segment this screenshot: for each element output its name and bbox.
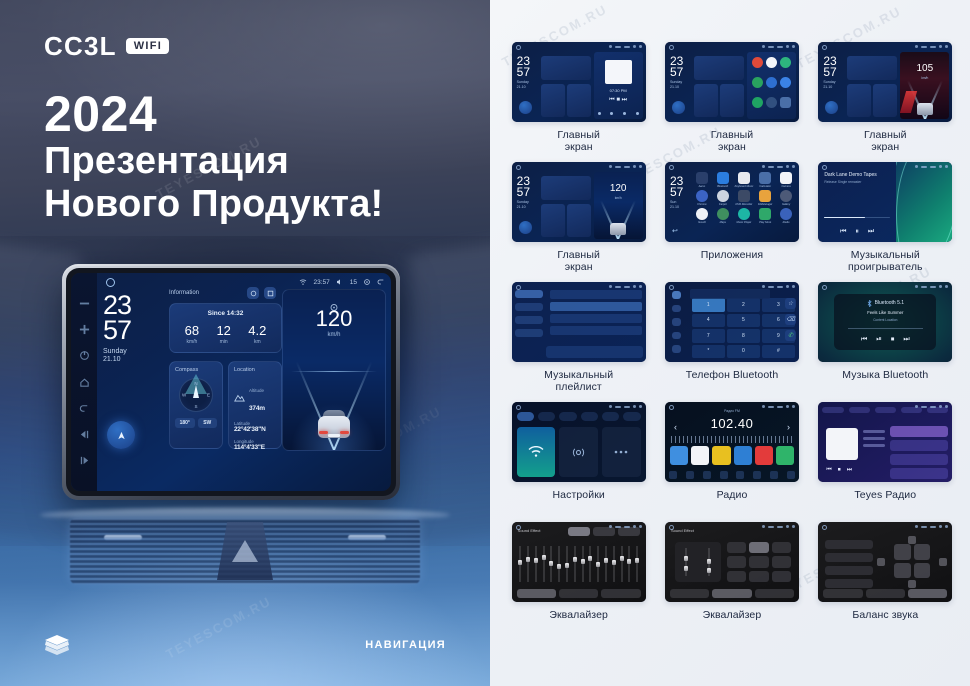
- road-visualization: [283, 340, 385, 450]
- compass-values: 180° SW: [175, 418, 217, 428]
- road-horizon: [291, 371, 377, 372]
- trip-stat-unit: km: [248, 339, 266, 345]
- status-bar: 23:57 15: [299, 278, 385, 286]
- app-tile: Music Player: [735, 208, 754, 224]
- navigation-fab-mini[interactable]: [519, 101, 532, 114]
- music-controls[interactable]: ⏮ ⏸ ⏭: [818, 228, 896, 236]
- thumbnail-home-drive[interactable]: 2357 Sunday21.10 120 km/h: [512, 162, 646, 242]
- drive-widget-mini: 120 km/h: [594, 172, 643, 239]
- home-circle-icon[interactable]: [106, 278, 115, 287]
- gallery-cell[interactable]: 1 2 3 4 5 6 7 8 9 * 0 #: [661, 282, 802, 402]
- equalizer-title: Sound Effect: [671, 528, 694, 533]
- gallery-caption: Эквалайзер: [703, 610, 762, 622]
- home-icon[interactable]: [79, 377, 90, 388]
- teyes-metadata: [863, 430, 885, 447]
- status-bar-mini: [762, 405, 795, 408]
- status-bar-mini: [915, 405, 948, 408]
- footer-navigation-label: НАВИГАЦИЯ: [365, 639, 446, 651]
- status-bar-mini: [609, 525, 642, 528]
- home-icon: [669, 285, 674, 290]
- gallery-grid: 2357 Sunday21.10 07:30 PM ⏮ ■ ⏭ Главный …: [508, 42, 956, 642]
- thumbnail-bluetooth-phone[interactable]: 1 2 3 4 5 6 7 8 9 * 0 #: [665, 282, 799, 362]
- radio-band-label: Радио FM: [665, 409, 799, 413]
- air-vent-slot-left: [104, 535, 142, 540]
- trip-stat: 12min: [216, 324, 230, 345]
- gallery-cell[interactable]: Dark Lane Demo Tapes Release Single rema…: [815, 162, 956, 282]
- music-visualizer: [896, 162, 952, 242]
- logo-model-text: CC3L: [44, 33, 117, 59]
- thumbnail-equalizer[interactable]: Sound Effect: [512, 522, 646, 602]
- gallery-caption: Музыкальный плейлист: [544, 370, 613, 394]
- home-icon: [516, 165, 521, 170]
- car-dashboard: 23:57 15 23 57 Sunda: [0, 236, 490, 546]
- bluetooth-icon: [867, 300, 872, 307]
- gallery-cell[interactable]: 2357 Sunday21.10 120 km/h Главный экран: [508, 162, 649, 282]
- keypad-key: 4: [692, 314, 725, 328]
- clock-mini: 2357: [823, 56, 836, 78]
- presentation-page: TEYESCOM.RU TEYESCOM.RU TEYESCOM.RU CC3L…: [0, 0, 970, 686]
- hotspot-icon: [572, 446, 585, 459]
- info-card-mini: [694, 56, 744, 80]
- status-bar-mini: [609, 45, 642, 48]
- status-bar-mini: [915, 525, 948, 528]
- app-tile: Gosoft: [693, 208, 711, 224]
- compass-heading: 180°: [175, 418, 195, 428]
- app-tile: DVR Recorder: [735, 190, 754, 206]
- balance-footer-tabs[interactable]: [823, 589, 947, 598]
- teyes-controls[interactable]: ⏮ ⏹ ⏭: [826, 467, 852, 474]
- album-art-mini: [826, 428, 858, 460]
- status-bar-mini: [915, 165, 948, 168]
- volume-up-icon[interactable]: [79, 324, 90, 335]
- navigation-fab-button[interactable]: [107, 421, 135, 449]
- app-tile: Chrome: [693, 190, 711, 206]
- trip-stat: 68km/h: [185, 324, 199, 345]
- gallery-caption: Эквалайзер: [549, 610, 608, 622]
- radio-presets[interactable]: [670, 446, 794, 465]
- wifi-icon: [528, 446, 544, 458]
- back-arrow-icon[interactable]: [377, 278, 385, 286]
- balance-right-button: [939, 558, 947, 566]
- keypad-key: 8: [727, 329, 760, 343]
- next-icon[interactable]: ⏭: [903, 336, 909, 344]
- gallery-caption: Главный экран: [557, 250, 600, 274]
- bluetooth-version-label: Bluetooth 5.1: [875, 300, 904, 306]
- clock-sub-mini: Sunday21.10: [823, 80, 835, 89]
- headline-year: 2024: [44, 88, 383, 140]
- gallery-cell[interactable]: Sound Effect: [508, 522, 649, 642]
- thumbnail-teyes-radio[interactable]: ⏮ ⏹ ⏭: [818, 402, 952, 482]
- gallery-caption: Баланс звука: [852, 610, 918, 622]
- info-card-mini: [847, 56, 897, 80]
- back-icon[interactable]: ↩: [672, 227, 678, 235]
- thumbnail-bluetooth-music[interactable]: Bluetooth 5.1 Feels Like Summer Content …: [818, 282, 952, 362]
- compass-card-mini: [847, 84, 871, 117]
- app-grid-mini[interactable]: Авто Bluetooth Keyboard Music Calculator…: [693, 172, 795, 224]
- drive-widget-mini: 105 km/h: [900, 52, 949, 119]
- teyes-station-list[interactable]: [890, 426, 948, 479]
- phone-sidebar[interactable]: [665, 282, 688, 362]
- previous-icon[interactable]: ⏮: [861, 336, 867, 344]
- status-bar-mini: [762, 525, 795, 528]
- drive-speed-card[interactable]: 120 km/h: [282, 289, 386, 451]
- thumbnail-music-player[interactable]: Dark Lane Demo Tapes Release Single rema…: [818, 162, 952, 242]
- trip-stat-value: 12: [216, 324, 230, 337]
- head-unit-bezel: 23:57 15 23 57 Sunda: [62, 264, 400, 500]
- gallery-cell[interactable]: Настройки: [508, 402, 649, 522]
- speed-value: 120: [283, 308, 385, 330]
- trip-stat-value: 68: [185, 324, 199, 337]
- information-title: Information: [169, 290, 199, 296]
- settings-cards[interactable]: [517, 427, 641, 477]
- home-icon: [516, 45, 521, 50]
- clock-mini: 2357: [670, 176, 683, 198]
- gallery-cell[interactable]: ⏮ ⏹ ⏭ Teyes Радио: [815, 402, 956, 522]
- bluetooth-track-title: Feels Like Summer: [867, 310, 903, 315]
- keypad-key: 7: [692, 329, 725, 343]
- navigation-arrow-icon: [116, 430, 127, 441]
- app-tile: Radio: [777, 208, 795, 224]
- status-bar-mini: [609, 165, 642, 168]
- status-time: 23:57: [313, 279, 329, 286]
- status-volume: 15: [350, 279, 357, 286]
- keypad-key: 0: [727, 345, 760, 359]
- gallery-cell[interactable]: Радио FM 102.40 ‹ ›: [661, 402, 802, 522]
- radio-toolbar[interactable]: [669, 471, 795, 479]
- app-tile: Авто: [693, 172, 711, 188]
- settings-gear-icon[interactable]: [363, 278, 371, 286]
- thumbnail-home-apps[interactable]: 2357 Sunday21.10: [665, 42, 799, 122]
- previous-track-icon[interactable]: [79, 429, 90, 440]
- wifi-icon: [299, 278, 307, 286]
- volume-icon: [336, 278, 344, 286]
- more-setting-card[interactable]: [602, 427, 641, 477]
- navigation-fab-mini[interactable]: [519, 221, 532, 234]
- wifi-setting-card[interactable]: [517, 427, 556, 477]
- equalizer-presets[interactable]: [568, 527, 640, 536]
- headline-line-1: Презентация: [44, 140, 383, 183]
- gallery-cell[interactable]: Баланс звука: [815, 522, 956, 642]
- altitude-label: Altitude: [249, 388, 264, 393]
- back-icon[interactable]: [79, 403, 90, 414]
- clock-sub-mini: Sunday21.10: [517, 80, 529, 89]
- center-console: [0, 508, 490, 628]
- home-icon: [669, 405, 674, 410]
- next-icon[interactable]: ⏭: [847, 467, 852, 474]
- location-card-mini: [567, 204, 591, 237]
- equalizer-sliders[interactable]: [675, 542, 721, 582]
- mountain-icon: [234, 393, 245, 402]
- playlist-now-playing-bar[interactable]: [546, 346, 642, 358]
- gallery-caption: Приложения: [701, 250, 763, 262]
- information-buttons[interactable]: [247, 287, 276, 299]
- pause-icon[interactable]: ⏸: [855, 228, 859, 236]
- status-bar-mini: [762, 165, 795, 168]
- more-icon: [614, 450, 628, 454]
- bluetooth-panel: Bluetooth 5.1 Feels Like Summer Content …: [834, 294, 936, 350]
- gallery-caption: Музыка Bluetooth: [842, 370, 928, 382]
- location-title: Location: [234, 367, 276, 373]
- clock-widget: 23 57 Sunday 21.10: [103, 293, 163, 365]
- playlist-sidebar[interactable]: [512, 282, 547, 362]
- product-logo: CC3L WIFI: [44, 33, 169, 59]
- hero-panel: TEYESCOM.RU TEYESCOM.RU TEYESCOM.RU CC3L…: [0, 0, 490, 686]
- compass-needle: [193, 385, 199, 398]
- radio-frequency: 102.40: [665, 416, 799, 431]
- latitude-block: Latitude 22°42'38"N: [234, 421, 276, 433]
- thumbnail-home-media[interactable]: 2357 Sunday21.10 07:30 PM ⏮ ■ ⏭: [512, 42, 646, 122]
- bluetooth-track-sub: Content Location: [873, 318, 897, 322]
- app-tile: FileManager: [756, 190, 774, 206]
- compass-card: Compass N E S W 180°: [169, 361, 223, 449]
- gallery-caption: Главный экран: [864, 130, 907, 154]
- keypad-key: 2: [727, 298, 760, 312]
- info-card-mini: [541, 176, 591, 200]
- previous-icon[interactable]: ⏮: [840, 228, 846, 236]
- hotspot-setting-card[interactable]: [559, 427, 598, 477]
- hero-footer: НАВИГАЦИЯ: [0, 634, 490, 656]
- media-widget-mini: 07:30 PM ⏮ ■ ⏭: [594, 52, 643, 119]
- home-icon: [669, 165, 674, 170]
- app-tile: Carpet: [714, 190, 732, 206]
- trip-since-label: Since 14:32: [176, 310, 275, 317]
- status-bar-mini: [762, 285, 795, 288]
- favorite-icon[interactable]: ☆: [785, 298, 796, 309]
- gallery-caption: Главный экран: [557, 130, 600, 154]
- balance-down-button: [908, 580, 916, 588]
- compass-card-mini: [541, 204, 565, 237]
- bluetooth-progress[interactable]: [848, 328, 923, 329]
- clock-weekday: Sunday: [103, 348, 163, 357]
- balance-up-button: [908, 536, 916, 544]
- car-3d-model: [316, 404, 352, 440]
- refresh-icon[interactable]: [247, 287, 259, 299]
- keypad-key: 1: [692, 298, 725, 312]
- gallery-cell[interactable]: Sound Effect Эква: [661, 522, 802, 642]
- keypad-key: #: [762, 345, 795, 359]
- hazard-triangle-icon: [232, 540, 258, 562]
- clock-mini: 2357: [517, 56, 530, 78]
- home-icon: [669, 525, 674, 530]
- altitude-row: Altitude 374m: [234, 379, 276, 415]
- altitude-value: 374m: [249, 405, 265, 412]
- app-shortcuts-mini: [747, 52, 796, 119]
- clock-sub-mini: Sunday21.10: [517, 200, 529, 209]
- call-icon[interactable]: ✆: [785, 330, 796, 341]
- expand-icon[interactable]: [264, 287, 276, 299]
- gallery-caption: Телефон Bluetooth: [686, 370, 779, 382]
- clock-minutes: 57: [103, 318, 163, 343]
- gallery-cell[interactable]: Музыкальный плейлист: [508, 282, 649, 402]
- compass-card-mini: [694, 84, 718, 117]
- speed-unit: km/h: [283, 332, 385, 338]
- status-bar-mini: [609, 405, 642, 408]
- home-icon: [516, 285, 521, 290]
- phone-number-display: [690, 289, 769, 299]
- status-bar-mini: [609, 285, 642, 288]
- trip-stat-unit: km/h: [185, 339, 199, 345]
- trip-stat-value: 4.2: [248, 324, 266, 337]
- trip-stat: 4.2km: [248, 324, 266, 345]
- compass-direction: SW: [198, 418, 218, 428]
- thumbnail-apps[interactable]: 2357 Sun21.10 ↩ Авто Bluetooth Keyboard …: [665, 162, 799, 242]
- app-tile: Gallery: [777, 190, 795, 206]
- balance-seat-map[interactable]: [894, 544, 930, 578]
- app-tile: Keyboard Music: [735, 172, 754, 188]
- play-pause-icon[interactable]: ⏯: [876, 336, 882, 344]
- gallery-cell[interactable]: Bluetooth 5.1 Feels Like Summer Content …: [815, 282, 956, 402]
- equalizer-footer-tabs[interactable]: [670, 589, 794, 598]
- compass-point-s: S: [194, 404, 197, 409]
- gallery-caption: Главный экран: [711, 130, 754, 154]
- clock-sub-mini: Sun21.10: [670, 200, 679, 209]
- trip-stats: 68km/h 12min 4.2km: [176, 324, 275, 345]
- gallery-caption: Музыкальный проигрыватель: [848, 250, 923, 274]
- keypad-key: *: [692, 345, 725, 359]
- gallery-caption: Настройки: [552, 490, 604, 502]
- compass-rose: N E S W: [179, 378, 213, 412]
- app-tile: Maps: [714, 208, 732, 224]
- head-unit-screen[interactable]: 23:57 15 23 57 Sunda: [71, 273, 391, 491]
- settings-tabs[interactable]: [517, 412, 641, 421]
- screen-content: 23:57 15 23 57 Sunda: [97, 273, 391, 491]
- clock-date: 21.10: [103, 356, 163, 365]
- balance-left-button: [877, 558, 885, 566]
- thumbnail-radio[interactable]: Радио FM 102.40 ‹ ›: [665, 402, 799, 482]
- location-card: Location Altitude 374m Latitude: [228, 361, 282, 449]
- radio-tuning-dial[interactable]: [671, 436, 793, 443]
- latitude-value: 22°42'38"N: [234, 426, 276, 433]
- thumbnail-settings[interactable]: [512, 402, 646, 482]
- home-icon: [516, 405, 521, 410]
- app-tile: Play Store: [756, 208, 774, 224]
- longitude-value: 114°4'33"E: [234, 444, 276, 451]
- music-title: Dark Lane Demo Tapes: [824, 172, 890, 178]
- status-bar-mini: [915, 285, 948, 288]
- power-icon[interactable]: [79, 350, 90, 361]
- equalizer-preset-grid[interactable]: [727, 542, 791, 582]
- thumbnail-equalizer-2[interactable]: Sound Effect: [665, 522, 799, 602]
- trip-stat-unit: min: [216, 339, 230, 345]
- compass-card-mini: [541, 84, 565, 117]
- air-vent-slot-right: [348, 535, 386, 540]
- gallery-cell[interactable]: 2357 Sunday21.10 105 km/h Главн: [815, 42, 956, 162]
- headline: 2024 Презентация Нового Продукта!: [44, 88, 383, 225]
- keypad-key: 5: [727, 314, 760, 328]
- location-card-mini: [873, 84, 897, 117]
- clock-sub-mini: Sunday21.10: [670, 80, 682, 89]
- compass-point-e: E: [207, 393, 210, 398]
- gallery-cell[interactable]: 2357 Sunday21.10: [661, 42, 802, 162]
- thumbnail-home-drive-red[interactable]: 2357 Sunday21.10 105 km/h: [818, 42, 952, 122]
- info-card-mini: [541, 56, 591, 80]
- status-bar-mini: [915, 45, 948, 48]
- compass-point-w: W: [182, 393, 186, 398]
- compass-point-n: N: [194, 381, 197, 386]
- location-card-mini: [567, 84, 591, 117]
- previous-icon[interactable]: ⏮: [826, 467, 831, 474]
- gallery-cell[interactable]: 2357 Sun21.10 ↩ Авто Bluetooth Keyboard …: [661, 162, 802, 282]
- trip-information-card: Since 14:32 68km/h 12min 4.2km: [169, 303, 282, 353]
- backspace-icon[interactable]: ⌫: [785, 314, 796, 325]
- bluetooth-version: Bluetooth 5.1: [867, 300, 904, 307]
- location-card-mini: [720, 84, 744, 117]
- next-icon[interactable]: ⏭: [868, 228, 874, 236]
- home-icon: [669, 45, 674, 50]
- clock-mini: 2357: [517, 176, 530, 198]
- thumbnail-sound-balance[interactable]: [818, 522, 952, 602]
- status-bar-mini: [762, 45, 795, 48]
- headline-line-2: Нового Продукта!: [44, 183, 383, 226]
- clock-mini: 2357: [670, 56, 683, 78]
- equalizer-bands[interactable]: [519, 546, 639, 582]
- logo-wifi-badge: WIFI: [126, 38, 169, 55]
- balance-options[interactable]: [825, 540, 873, 588]
- volume-down-icon[interactable]: [79, 298, 90, 309]
- music-artist: Release Single remaster: [824, 180, 890, 184]
- gallery-caption: Teyes Радио: [854, 490, 916, 502]
- equalizer-title: Sound Effect: [518, 528, 541, 533]
- compass-title: Compass: [175, 367, 217, 373]
- radio-next-icon[interactable]: ›: [787, 422, 790, 432]
- music-info-pane: Dark Lane Demo Tapes Release Single rema…: [818, 162, 896, 242]
- radio-prev-icon[interactable]: ‹: [674, 422, 677, 432]
- next-track-icon[interactable]: [79, 455, 90, 466]
- thumbnail-music-playlist[interactable]: [512, 282, 646, 362]
- app-tile: Camera: [777, 172, 795, 188]
- longitude-block: Longitude 114°4'33"E: [234, 439, 276, 451]
- speed-value-mini: 105: [900, 63, 949, 74]
- navigation-fab-mini[interactable]: [672, 101, 685, 114]
- screenshot-gallery: TEYESCOM.RU TEYESCOM.RU TEYESCOM.RU TEYE…: [490, 0, 970, 686]
- side-rail[interactable]: [71, 273, 97, 491]
- bluetooth-controls[interactable]: ⏮ ⏯ ⏹ ⏭: [861, 336, 910, 344]
- speed-value-mini: 120: [594, 183, 643, 194]
- gallery-cell[interactable]: 2357 Sunday21.10 07:30 PM ⏮ ■ ⏭ Главный …: [508, 42, 649, 162]
- gallery-caption: Радио: [717, 490, 748, 502]
- layers-stack-icon: [44, 634, 70, 656]
- head-unit-inner: 23:57 15 23 57 Sunda: [66, 268, 396, 496]
- music-progress-bar[interactable]: [824, 217, 890, 219]
- app-tile: Bluetooth: [714, 172, 732, 188]
- home-icon: [516, 525, 521, 530]
- equalizer-footer-tabs[interactable]: [517, 589, 641, 598]
- stop-icon[interactable]: ⏹: [838, 467, 841, 474]
- stop-icon[interactable]: ⏹: [891, 336, 895, 344]
- phone-actions[interactable]: ☆ ⌫ ✆: [785, 298, 796, 341]
- app-tile: Calculator: [756, 172, 774, 188]
- dashboard-right-shape: [410, 238, 490, 545]
